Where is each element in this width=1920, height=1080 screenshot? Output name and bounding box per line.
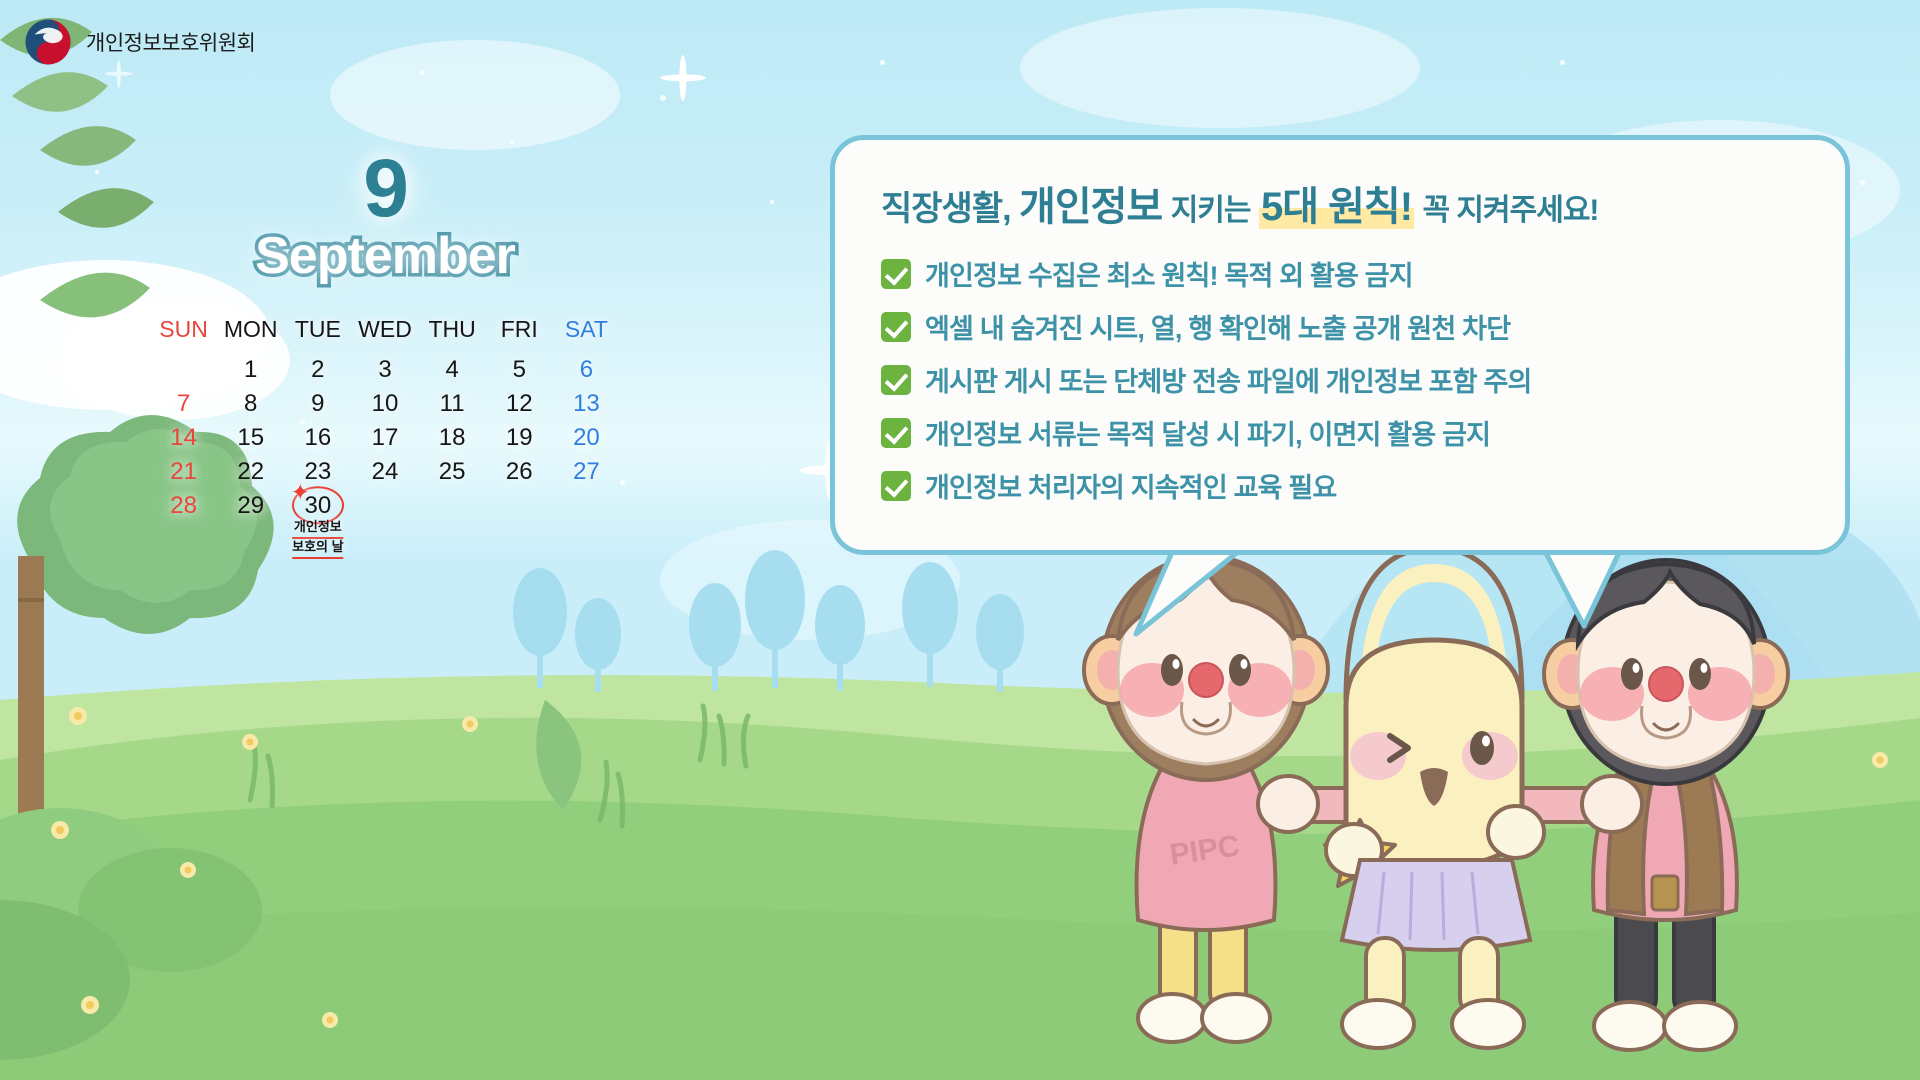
day-cell[interactable]: 14 (150, 421, 217, 455)
calendar-week-row: 14 15 16 17 18 19 20 (150, 421, 620, 455)
month-number: 9 (150, 150, 620, 228)
day-cell[interactable]: 6 (553, 353, 620, 387)
day-cell[interactable]: 8 (217, 387, 284, 421)
day-cell[interactable]: 29 (217, 489, 284, 523)
rule-text: 개인정보 서류는 목적 달성 시 파기, 이면지 활용 금지 (925, 413, 1490, 452)
rule-item: 개인정보 처리자의 지속적인 교육 필요 (881, 466, 1805, 505)
check-box-icon (881, 365, 911, 395)
privacy-day-note-line1: 개인정보 (292, 519, 343, 539)
day-cell[interactable]: 28 (150, 489, 217, 523)
calendar-week-row: 1 2 3 4 5 6 (150, 353, 620, 387)
organization-name: 개인정보보호위원회 (86, 27, 255, 57)
day-cell[interactable]: 7 (150, 387, 217, 421)
highlight-day-number: 30 (305, 492, 332, 519)
calendar-week-row: 21 22 23 24 25 26 27 (150, 455, 620, 489)
day-cell[interactable]: 16 (284, 421, 351, 455)
privacy-day-note: 개인정보 보호의 날 (292, 519, 343, 559)
check-box-icon (881, 312, 911, 342)
brand-header: 개인정보보호위원회 (24, 18, 255, 66)
day-cell[interactable]: 24 (351, 455, 418, 489)
day-cell (419, 489, 486, 523)
rule-text: 개인정보 처리자의 지속적인 교육 필요 (925, 466, 1336, 505)
day-cell[interactable]: 3 (351, 353, 418, 387)
bubble-title: 직장생활, 개인정보 지키는 5대 원칙! 꼭 지켜주세요! (881, 174, 1805, 232)
day-cell[interactable]: 26 (486, 455, 553, 489)
rule-item: 게시판 게시 또는 단체방 전송 파일에 개인정보 포함 주의 (881, 360, 1805, 399)
weekday-wed: WED (351, 316, 418, 353)
day-cell-highlighted[interactable]: ✦ 30 개인정보 보호의 날 (284, 489, 351, 523)
day-cell[interactable]: 5 (486, 353, 553, 387)
day-cell[interactable]: 15 (217, 421, 284, 455)
calendar-widget: 9 September SUN MON TUE WED THU FRI SAT … (150, 150, 620, 523)
day-cell[interactable]: 21 (150, 455, 217, 489)
title-highlight: 5대 원칙! (1259, 185, 1414, 229)
day-cell[interactable]: 17 (351, 421, 418, 455)
day-cell[interactable]: 9 (284, 387, 351, 421)
day-cell[interactable]: 13 (553, 387, 620, 421)
day-cell[interactable]: 22 (217, 455, 284, 489)
calendar-week-row: 28 29 ✦ 30 개인정보 보호의 날 (150, 489, 620, 523)
day-cell[interactable]: 19 (486, 421, 553, 455)
day-cell[interactable]: 10 (351, 387, 418, 421)
weekday-thu: THU (419, 316, 486, 353)
tips-speech-bubble: 직장생활, 개인정보 지키는 5대 원칙! 꼭 지켜주세요! 개인정보 수집은 … (830, 135, 1850, 555)
day-cell[interactable]: 20 (553, 421, 620, 455)
calendar-grid: SUN MON TUE WED THU FRI SAT 1 2 3 4 5 (150, 316, 620, 523)
day-cell[interactable]: 1 (217, 353, 284, 387)
check-box-icon (881, 471, 911, 501)
calendar-week-row: 7 8 9 10 11 12 13 (150, 387, 620, 421)
day-cell[interactable]: 4 (419, 353, 486, 387)
rule-text: 개인정보 수집은 최소 원칙! 목적 외 활용 금지 (925, 254, 1413, 293)
day-cell[interactable]: 12 (486, 387, 553, 421)
rule-text: 게시판 게시 또는 단체방 전송 파일에 개인정보 포함 주의 (925, 360, 1532, 399)
day-cell (486, 489, 553, 523)
weekday-sun: SUN (150, 316, 217, 353)
rule-item: 개인정보 서류는 목적 달성 시 파기, 이면지 활용 금지 (881, 413, 1805, 452)
day-cell (553, 489, 620, 523)
privacy-day-note-line2: 보호의 날 (292, 539, 343, 559)
check-box-icon (881, 259, 911, 289)
rule-item: 엑셀 내 숨겨진 시트, 열, 행 확인해 노출 공개 원천 차단 (881, 307, 1805, 346)
month-name: September (150, 230, 620, 282)
rule-item: 개인정보 수집은 최소 원칙! 목적 외 활용 금지 (881, 254, 1805, 293)
weekday-fri: FRI (486, 316, 553, 353)
title-segment-5: 꼭 지켜주세요! (1423, 194, 1599, 227)
day-cell[interactable] (150, 353, 217, 387)
day-cell[interactable]: 11 (419, 387, 486, 421)
korea-government-taegeuk-icon (24, 18, 72, 66)
calendar-weekday-row: SUN MON TUE WED THU FRI SAT (150, 316, 620, 353)
day-cell[interactable]: 25 (419, 455, 486, 489)
title-segment-2: 개인정보 (1019, 185, 1162, 229)
check-box-icon (881, 418, 911, 448)
rule-text: 엑셀 내 숨겨진 시트, 열, 행 확인해 노출 공개 원천 차단 (925, 307, 1510, 346)
title-segment-1: 직장생활, (881, 190, 1011, 228)
day-cell[interactable]: 18 (419, 421, 486, 455)
day-cell (351, 489, 418, 523)
poster-canvas: 개인정보보호위원회 9 September SUN MON TUE WED TH… (0, 0, 1920, 1080)
day-cell[interactable]: 2 (284, 353, 351, 387)
title-segment-3: 지키는 (1171, 194, 1251, 227)
day-cell[interactable]: 27 (553, 455, 620, 489)
weekday-tue: TUE (284, 316, 351, 353)
weekday-sat: SAT (553, 316, 620, 353)
weekday-mon: MON (217, 316, 284, 353)
